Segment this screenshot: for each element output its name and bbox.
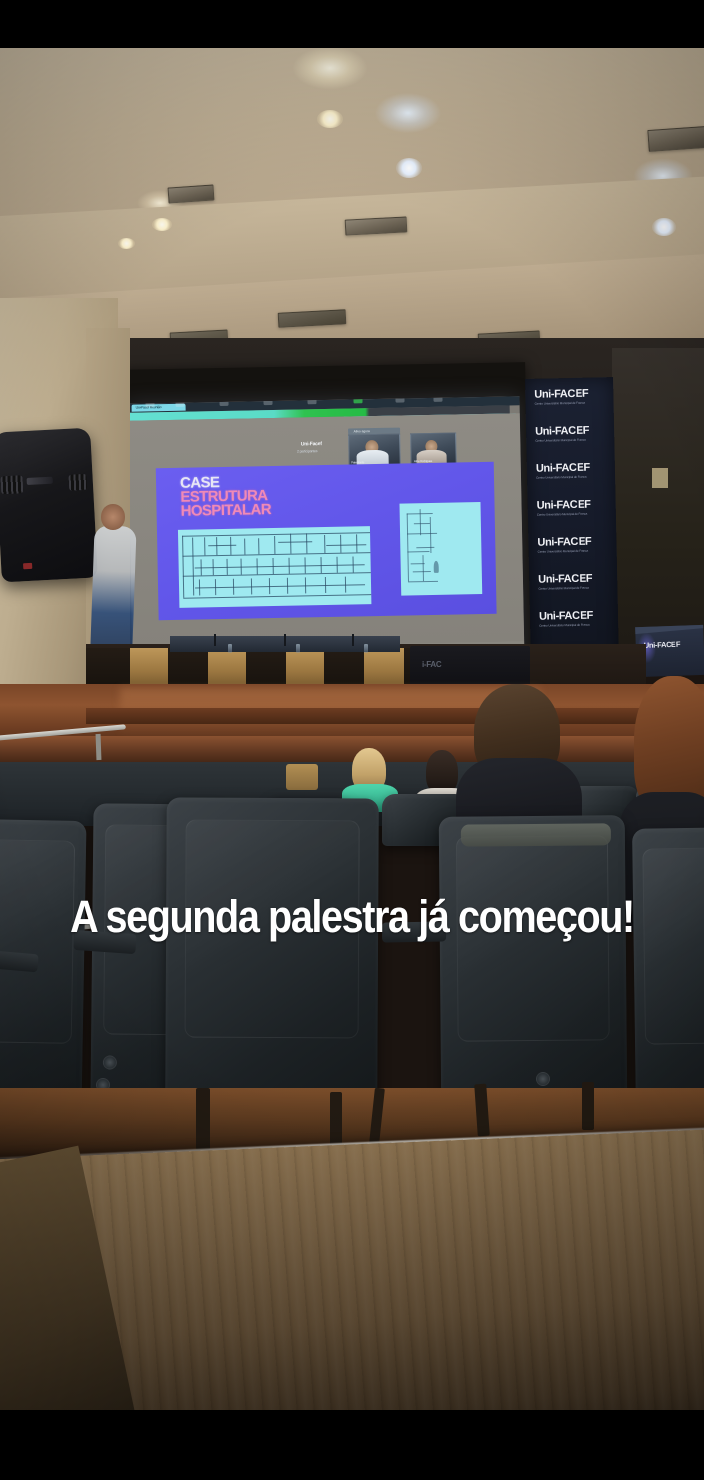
photo-content: Uni-Facef Reunião Uni-Facef 2 participan… bbox=[0, 48, 704, 1410]
unifacef-logo-subtitle: Centro Universitário Municipal de Franca bbox=[538, 548, 617, 554]
unifacef-logo-subtitle: Centro Universitário Municipal de Franca bbox=[536, 474, 615, 480]
unifacef-logo-subtitle: Centro Universitário Municipal de Franca bbox=[535, 400, 614, 406]
handbag bbox=[286, 764, 318, 790]
meeting-window-body: Uni-Facef 2 participantes Ativo agora Pa… bbox=[128, 413, 524, 648]
ceiling-spotlight-icon bbox=[317, 110, 343, 128]
unifacef-logo: Uni-FACEF Centro Universitário Municipal… bbox=[529, 562, 618, 601]
unifacef-logo: Uni-FACEF Centro Universitário Municipal… bbox=[528, 525, 617, 564]
auditorium-seat[interactable] bbox=[165, 797, 379, 1110]
meeting-title: Uni-Facef bbox=[301, 441, 322, 447]
unifacef-logo-subtitle: Centro Universitário Municipal de Franca bbox=[539, 622, 618, 628]
unifacef-logo-text: Uni-FACEF bbox=[537, 535, 616, 549]
unifacef-banner: Uni-FACEF Centro Universitário Municipal… bbox=[525, 377, 619, 664]
ceiling-spotlight-icon bbox=[152, 218, 172, 231]
person-standing-head bbox=[101, 504, 125, 530]
unifacef-logo: Uni-FACEF Centro Universitário Municipal… bbox=[527, 488, 616, 527]
architectural-section-sketch-image bbox=[400, 502, 483, 596]
seat-headrest-trim bbox=[461, 823, 611, 846]
seat-cushion bbox=[0, 839, 76, 1044]
unifacef-logo-text: Uni-FACEF bbox=[538, 572, 617, 586]
unifacef-logo-text: Uni-FACEF bbox=[534, 387, 613, 401]
participant-video-tile[interactable]: Aline Rodrigues bbox=[410, 432, 457, 465]
participant-video-tile[interactable]: Palestrante bbox=[348, 434, 401, 467]
ac-vent-icon bbox=[345, 216, 408, 235]
seat-number-badge bbox=[103, 1055, 117, 1069]
story-caption[interactable]: A segunda palestra já começou! bbox=[42, 893, 662, 940]
lectern-logo-text: Uni-FACEF bbox=[644, 640, 681, 650]
ceiling-spotlight-icon bbox=[396, 158, 422, 178]
letterbox-bottom bbox=[0, 1410, 704, 1480]
slide-title: CASE ESTRUTURA HOSPITALAR bbox=[180, 475, 271, 518]
unifacef-logo: Uni-FACEF Centro Universitário Municipal… bbox=[526, 414, 615, 453]
pa-speaker-icon bbox=[0, 428, 98, 583]
ac-vent-icon bbox=[167, 184, 214, 203]
unifacef-logo: Uni-FACEF Centro Universitário Municipal… bbox=[525, 377, 614, 416]
seat-number-badge bbox=[536, 1072, 550, 1086]
unifacef-logo-subtitle: Centro Universitário Municipal de Franca bbox=[538, 585, 617, 591]
letterbox-top bbox=[0, 0, 704, 48]
wall-plaque bbox=[652, 468, 668, 488]
unifacef-logo-text: Uni-FACEF bbox=[535, 424, 614, 438]
unifacef-logo: Uni-FACEF Centro Universitário Municipal… bbox=[530, 599, 619, 638]
unifacef-logo-subtitle: Centro Universitário Municipal de Franca bbox=[537, 511, 616, 517]
slide-title-line-3: HOSPITALAR bbox=[180, 503, 271, 519]
unifacef-logo-text: Uni-FACEF bbox=[539, 609, 618, 623]
seat-armrest bbox=[0, 950, 39, 973]
handrail-post bbox=[96, 734, 102, 760]
ceiling-spotlight-icon bbox=[652, 218, 676, 236]
presentation-slide: CASE ESTRUTURA HOSPITALAR bbox=[156, 462, 496, 620]
projection-screen: Uni-Facef Reunião Uni-Facef 2 participan… bbox=[128, 396, 525, 665]
unifacef-logo-text: Uni-FACEF bbox=[537, 498, 616, 512]
unifacef-logo-text: Uni-FACEF bbox=[536, 461, 615, 475]
instagram-story-photo: Uni-Facef Reunião Uni-Facef 2 participan… bbox=[0, 0, 704, 1480]
right-dark-wall bbox=[612, 348, 704, 668]
auditorium-seat[interactable] bbox=[632, 827, 704, 1109]
ac-vent-icon bbox=[647, 126, 704, 152]
meeting-subtitle: 2 participantes bbox=[297, 449, 317, 453]
unifacef-logo-subtitle: Centro Universitário Municipal de Franca bbox=[535, 437, 614, 443]
hospital-floor-plan-image bbox=[178, 526, 372, 608]
auditorium-seat[interactable] bbox=[439, 815, 628, 1109]
ceiling-spotlight-icon bbox=[118, 238, 135, 249]
stage-equipment-logo-text: i-FAC bbox=[422, 660, 441, 669]
unifacef-logo: Uni-FACEF Centro Universitário Municipal… bbox=[527, 451, 616, 490]
seat-cushion bbox=[642, 847, 704, 1044]
